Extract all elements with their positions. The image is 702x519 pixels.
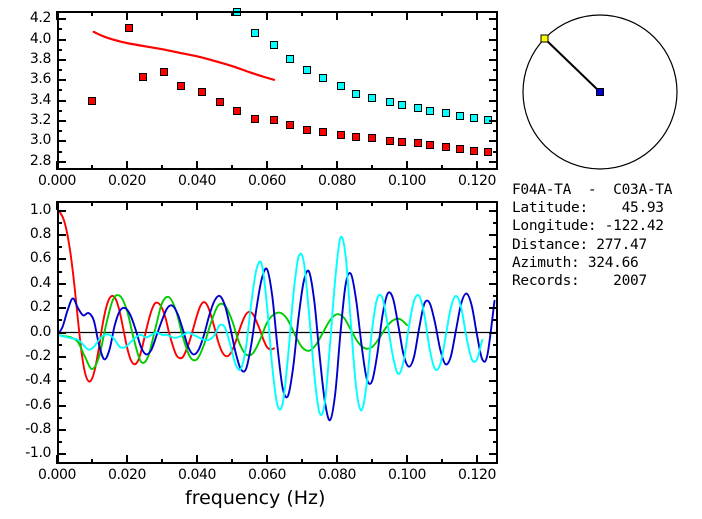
- dispersion-ytick-minor: [493, 28, 498, 30]
- dispersion-ytick: [489, 18, 498, 20]
- cross-correlation-spectra-ytick: [489, 234, 498, 236]
- dispersion-xticklabel: 0.020: [99, 173, 155, 189]
- cross-correlation-spectra-yticklabel: -0.4: [1, 372, 51, 388]
- dispersion-xtick-minor: [231, 11, 233, 16]
- cross-correlation-spectra-yticklabel: -0.6: [1, 397, 51, 413]
- dispersion-ytick-minor: [57, 151, 62, 153]
- dispersion-yticklabel: 2.8: [1, 153, 51, 169]
- cross-correlation-spectra-xtick: [126, 455, 128, 464]
- cross-correlation-spectra-yticklabel: 1.0: [1, 202, 51, 218]
- cross-correlation-spectra-ytick: [489, 453, 498, 455]
- cross-correlation-spectra-ytick: [57, 453, 66, 455]
- cross-correlation-spectra-ytick: [57, 429, 66, 431]
- dispersion-xtick: [406, 11, 408, 20]
- dispersion-xtick-minor: [371, 165, 373, 170]
- cross-correlation-spectra-xtick: [476, 201, 478, 210]
- dispersion-xtick: [196, 161, 198, 170]
- cross-correlation-spectra-ytick: [57, 356, 66, 358]
- dispersion-xticklabel: 0.000: [29, 173, 85, 189]
- cross-correlation-spectra-xticklabel: 0.100: [379, 467, 435, 483]
- x-axis-title: frequency (Hz): [185, 487, 325, 509]
- dispersion-ytick: [57, 59, 66, 61]
- cross-correlation-spectra-ytick: [489, 380, 498, 382]
- cross-correlation-spectra-ytick: [489, 429, 498, 431]
- cross-correlation-spectra-xtick-minor: [161, 459, 163, 464]
- cross-correlation-spectra-xtick-minor: [441, 459, 443, 464]
- azimuth-row: Azimuth: 324.66: [512, 254, 702, 272]
- dispersion-ytick: [489, 39, 498, 41]
- cross-correlation-spectra-xtick-minor: [231, 201, 233, 206]
- dispersion-frame: [57, 11, 498, 170]
- cross-correlation-spectra-ytick: [57, 258, 66, 260]
- dispersion-xtick-minor: [91, 165, 93, 170]
- dispersion-xtick-minor: [301, 11, 303, 16]
- cross-correlation-spectra-xticklabel: 0.060: [239, 467, 295, 483]
- cross-correlation-spectra-xticklabel: 0.020: [99, 467, 155, 483]
- ray-path-line: [545, 39, 601, 93]
- cross-correlation-spectra-ytick: [57, 234, 66, 236]
- dispersion-xtick: [266, 11, 268, 20]
- dispersion-ytick-minor: [493, 69, 498, 71]
- cross-correlation-spectra-xtick: [336, 201, 338, 210]
- cross-correlation-spectra-xtick: [406, 455, 408, 464]
- dispersion-yticklabel: 3.2: [1, 112, 51, 128]
- dispersion-ytick: [489, 100, 498, 102]
- center-station-marker-icon: [597, 89, 604, 96]
- dispersion-xtick: [476, 161, 478, 170]
- station-info-panel: F04A-TA - C03A-TA Latitude: 45.93 Longit…: [512, 181, 702, 290]
- map-svg: [505, 8, 695, 176]
- dispersion-xtick: [196, 11, 198, 20]
- cross-correlation-spectra-ytick: [57, 332, 66, 334]
- cross-correlation-spectra-ytick-minor: [493, 222, 498, 224]
- cross-correlation-spectra-ytick-minor: [493, 368, 498, 370]
- cross-correlation-spectra-ytick: [57, 210, 66, 212]
- cross-correlation-spectra-yticklabel: 0.8: [1, 226, 51, 242]
- dispersion-ytick: [489, 120, 498, 122]
- cross-correlation-spectra-xtick-minor: [231, 459, 233, 464]
- dispersion-ytick-minor: [493, 49, 498, 51]
- cross-correlation-spectra-ytick-minor: [493, 295, 498, 297]
- figure-canvas: 0.0000.0200.0400.0600.0800.1000.1202.83.…: [0, 0, 702, 519]
- cross-correlation-spectra-ytick: [57, 405, 66, 407]
- cross-correlation-spectra-xtick: [56, 455, 58, 464]
- cross-correlation-spectra-ytick-minor: [57, 441, 62, 443]
- cross-correlation-spectra-ytick: [489, 405, 498, 407]
- dispersion-xtick: [126, 11, 128, 20]
- dispersion-xtick-minor: [371, 11, 373, 16]
- cross-correlation-spectra-xtick-minor: [371, 459, 373, 464]
- dispersion-ytick: [489, 161, 498, 163]
- cross-correlation-spectra-ytick-minor: [57, 319, 62, 321]
- dispersion-xtick: [336, 161, 338, 170]
- cross-correlation-spectra-ytick: [489, 258, 498, 260]
- cross-correlation-spectra-xtick-minor: [91, 459, 93, 464]
- cross-correlation-spectra-xtick: [196, 455, 198, 464]
- dispersion-ytick: [57, 79, 66, 81]
- records-row: Records: 2007: [512, 272, 702, 290]
- cross-correlation-spectra-ytick: [489, 307, 498, 309]
- station-pair-label: F04A-TA - C03A-TA: [512, 181, 702, 199]
- cross-correlation-spectra-xticklabel: 0.000: [29, 467, 85, 483]
- dispersion-yticklabel: 3.8: [1, 51, 51, 67]
- dispersion-xtick: [266, 161, 268, 170]
- dispersion-yticklabel: 3.4: [1, 92, 51, 108]
- cross-correlation-spectra-ytick-minor: [57, 368, 62, 370]
- dispersion-ytick: [57, 39, 66, 41]
- cross-correlation-spectra-ytick: [489, 356, 498, 358]
- cross-correlation-spectra-xtick-minor: [441, 201, 443, 206]
- dispersion-xtick-minor: [231, 165, 233, 170]
- cross-correlation-spectra-yticklabel: -0.8: [1, 421, 51, 437]
- dispersion-ytick-minor: [493, 110, 498, 112]
- cross-correlation-spectra-xtick: [476, 455, 478, 464]
- cross-correlation-spectra-xtick-minor: [301, 459, 303, 464]
- cross-correlation-spectra-ytick-minor: [57, 246, 62, 248]
- dispersion-xticklabel: 0.060: [239, 173, 295, 189]
- cross-correlation-spectra-xtick: [266, 201, 268, 210]
- cross-correlation-spectra-xtick: [336, 455, 338, 464]
- dispersion-xtick-minor: [441, 11, 443, 16]
- cross-correlation-spectra-xtick: [196, 201, 198, 210]
- cross-correlation-spectra-ytick: [57, 307, 66, 309]
- cross-correlation-spectra-ytick-minor: [57, 271, 62, 273]
- cross-correlation-spectra-ytick-minor: [493, 417, 498, 419]
- dispersion-xticklabel: 0.040: [169, 173, 225, 189]
- dispersion-yticklabel: 3.0: [1, 132, 51, 148]
- ray-path-map: [505, 8, 695, 176]
- cross-correlation-spectra-ytick-minor: [57, 222, 62, 224]
- distance-row: Distance: 277.47: [512, 236, 702, 254]
- cross-correlation-spectra-ytick-minor: [57, 344, 62, 346]
- cross-correlation-spectra-yticklabel: 0.2: [1, 299, 51, 315]
- cross-correlation-spectra-xticklabel: 0.080: [309, 467, 365, 483]
- dispersion-ytick: [489, 59, 498, 61]
- dispersion-ytick-minor: [57, 130, 62, 132]
- dispersion-xtick: [336, 11, 338, 20]
- cross-correlation-spectra-xtick-minor: [371, 201, 373, 206]
- cross-correlation-spectra-yticklabel: 0.4: [1, 275, 51, 291]
- dispersion-ytick: [57, 140, 66, 142]
- cross-correlation-spectra-ytick-minor: [57, 295, 62, 297]
- dispersion-ytick: [57, 120, 66, 122]
- dispersion-ytick-minor: [57, 28, 62, 30]
- cross-correlation-spectra-ytick: [489, 210, 498, 212]
- cross-correlation-spectra-ytick-minor: [493, 271, 498, 273]
- cross-correlation-spectra-ytick-minor: [493, 392, 498, 394]
- longitude-row: Longitude: -122.42: [512, 217, 702, 235]
- cross-correlation-spectra-xtick-minor: [91, 201, 93, 206]
- cross-correlation-spectra-yticklabel: -1.0: [1, 445, 51, 461]
- cross-correlation-spectra-xticklabel: 0.120: [449, 467, 505, 483]
- dispersion-xtick-minor: [91, 11, 93, 16]
- dispersion-ytick: [489, 79, 498, 81]
- dispersion-ytick-minor: [493, 130, 498, 132]
- dispersion-xtick: [126, 161, 128, 170]
- dispersion-xtick-minor: [161, 165, 163, 170]
- dispersion-ytick-minor: [493, 151, 498, 153]
- dispersion-xtick-minor: [441, 165, 443, 170]
- cross-correlation-spectra-xticklabel: 0.040: [169, 467, 225, 483]
- latitude-row: Latitude: 45.93: [512, 199, 702, 217]
- dispersion-yticklabel: 4.2: [1, 10, 51, 26]
- cross-correlation-spectra-ytick-minor: [493, 319, 498, 321]
- dispersion-yticklabel: 3.6: [1, 71, 51, 87]
- dispersion-ytick: [489, 140, 498, 142]
- dispersion-xtick: [406, 161, 408, 170]
- cross-correlation-spectra-ytick-minor: [493, 441, 498, 443]
- dispersion-xticklabel: 0.100: [379, 173, 435, 189]
- cross-correlation-spectra-xtick: [406, 201, 408, 210]
- cross-correlation-spectra-xtick: [56, 201, 58, 210]
- cross-correlation-spectra-ytick: [489, 283, 498, 285]
- cross-correlation-spectra-xtick-minor: [161, 201, 163, 206]
- cross-correlation-spectra-ytick-minor: [57, 392, 62, 394]
- station-marker-icon: [541, 35, 548, 42]
- cross-correlation-spectra-ytick: [57, 380, 66, 382]
- cross-correlation-spectra-frame: [57, 201, 498, 464]
- dispersion-xtick: [476, 11, 478, 20]
- dispersion-xtick-minor: [161, 11, 163, 16]
- dispersion-ytick: [57, 100, 66, 102]
- cross-correlation-spectra-xtick: [126, 201, 128, 210]
- dispersion-ytick-minor: [57, 49, 62, 51]
- dispersion-ytick-minor: [57, 89, 62, 91]
- cross-correlation-spectra-ytick-minor: [493, 344, 498, 346]
- cross-correlation-spectra-xtick: [266, 455, 268, 464]
- dispersion-ytick-minor: [493, 89, 498, 91]
- cross-correlation-spectra-yticklabel: 0.6: [1, 250, 51, 266]
- dispersion-ytick-minor: [57, 69, 62, 71]
- dispersion-ytick-minor: [57, 110, 62, 112]
- dispersion-yticklabel: 4.0: [1, 31, 51, 47]
- cross-correlation-spectra-ytick: [489, 332, 498, 334]
- dispersion-ytick: [57, 18, 66, 20]
- cross-correlation-spectra-ytick-minor: [57, 417, 62, 419]
- dispersion-xtick-minor: [301, 165, 303, 170]
- dispersion-xticklabel: 0.120: [449, 173, 505, 189]
- dispersion-ytick: [57, 161, 66, 163]
- dispersion-xticklabel: 0.080: [309, 173, 365, 189]
- cross-correlation-spectra-ytick-minor: [493, 246, 498, 248]
- cross-correlation-spectra-ytick: [57, 283, 66, 285]
- cross-correlation-spectra-xtick-minor: [301, 201, 303, 206]
- cross-correlation-spectra-yticklabel: -0.2: [1, 348, 51, 364]
- cross-correlation-spectra-yticklabel: 0.0: [1, 324, 51, 340]
